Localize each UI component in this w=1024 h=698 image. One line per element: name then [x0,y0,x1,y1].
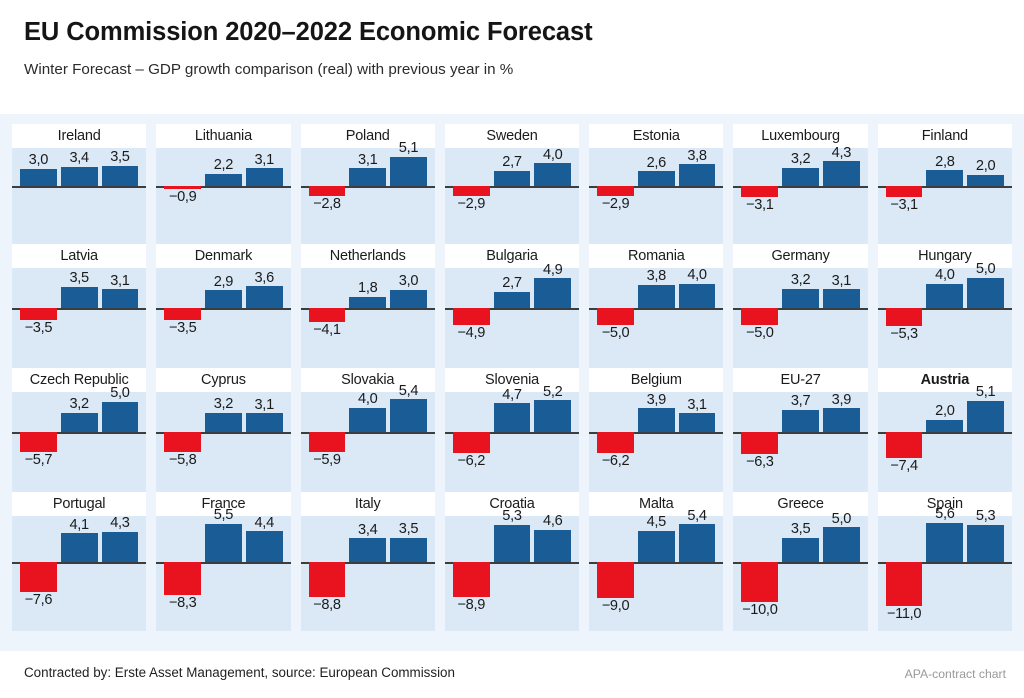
bar-positive [390,538,427,562]
bar-slot: −3,1 [886,148,923,244]
bar-value-label: −8,9 [457,598,485,613]
country-name: Greece [777,496,823,512]
bar-negative [20,432,57,452]
bar-negative [20,562,57,592]
bar-value-label: 4,0 [358,392,377,407]
country-name: Netherlands [330,248,406,264]
bar-group: −11,05,65,3 [878,516,1012,631]
bar-value-label: −4,1 [313,323,341,338]
bar-value-label: 2,7 [502,155,521,170]
country-panel-plot: −6,23,93,1 [589,392,723,492]
bar-group: −8,83,43,5 [301,516,435,631]
bar-positive [102,166,139,186]
bar-slot: 3,1 [246,392,283,492]
bar-slot: 3,5 [782,516,819,631]
bar-slot: −10,0 [741,516,778,631]
bar-group: −7,42,05,1 [878,392,1012,492]
bar-slot: 2,2 [205,148,242,244]
bar-slot: 4,1 [61,516,98,631]
bar-group: −2,83,15,1 [301,148,435,244]
bar-slot: −5,8 [164,392,201,492]
bar-slot: 3,7 [782,392,819,492]
bar-value-label: 2,9 [214,275,233,290]
bar-value-label: 3,1 [832,274,851,289]
bar-value-label: 2,0 [935,404,954,419]
bar-value-label: 3,8 [687,149,706,164]
bar-positive [246,168,283,186]
bar-slot: −5,9 [309,392,346,492]
country-panel: Italy−8,83,43,5 [301,492,435,631]
bar-value-label: 3,1 [254,153,273,168]
country-panel-plot: 3,03,43,5 [12,148,146,244]
footer: Contracted by: Erste Asset Management, s… [0,651,1024,698]
bar-positive [679,164,716,186]
country-panel: Latvia−3,53,53,1 [12,244,146,368]
bar-value-label: 3,2 [69,397,88,412]
country-panel: Finland−3,12,82,0 [878,124,1012,244]
bar-negative [309,432,346,452]
country-panel-plot: −5,03,23,1 [733,268,867,368]
bar-slot: 3,8 [638,268,675,368]
bar-slot: −2,9 [453,148,490,244]
country-panel-plot: −3,13,24,3 [733,148,867,244]
bar-value-label: −2,9 [602,197,630,212]
small-multiples-grid: Ireland3,03,43,5Lithuania−0,92,23,1Polan… [12,124,1012,643]
bar-positive [390,290,427,308]
header: EU Commission 2020–2022 Economic Forecas… [0,0,1024,80]
bar-positive [967,175,1004,187]
bar-positive [390,157,427,187]
bar-value-label: 3,4 [69,151,88,166]
bar-slot: −3,1 [741,148,778,244]
bar-slot: 4,0 [349,392,386,492]
bar-positive [102,289,139,308]
bar-value-label: 3,1 [110,274,129,289]
country-panel-header: Italy [301,492,435,516]
bar-negative [164,432,201,452]
bar-positive [246,413,283,432]
country-panel: Netherlands−4,11,83,0 [301,244,435,368]
country-name: Latvia [60,248,98,264]
bar-slot: 2,9 [205,268,242,368]
bar-value-label: 3,9 [832,393,851,408]
bar-value-label: −5,7 [25,453,53,468]
bar-negative [453,308,490,325]
bar-value-label: 3,1 [254,398,273,413]
bar-value-label: −2,8 [313,197,341,212]
bar-positive [61,533,98,562]
country-panel: EU-27−6,33,73,9 [733,368,867,492]
bar-value-label: −10,0 [742,603,777,618]
bar-value-label: 4,7 [502,388,521,403]
bar-value-label: −5,0 [746,326,774,341]
bar-positive [926,420,963,432]
bar-positive [390,399,427,432]
bar-value-label: −5,8 [169,453,197,468]
bar-slot: 3,1 [246,148,283,244]
country-panel: Luxembourg−3,13,24,3 [733,124,867,244]
country-name: Finland [922,128,968,144]
country-panel-header: Germany [733,244,867,268]
bar-slot: 2,0 [926,392,963,492]
bar-group: −8,95,34,6 [445,516,579,631]
country-panel-plot: −9,04,55,4 [589,516,723,631]
bar-value-label: 3,0 [399,274,418,289]
bar-group: −2,92,63,8 [589,148,723,244]
bar-slot: 3,1 [102,268,139,368]
bar-value-label: 4,3 [110,516,129,531]
bar-slot: 5,1 [967,392,1004,492]
bar-group: −5,03,84,0 [589,268,723,368]
bar-slot: −8,9 [453,516,490,631]
bar-group: −8,35,54,4 [156,516,290,631]
country-panel-plot: −8,95,34,6 [445,516,579,631]
bar-slot: 2,7 [494,268,531,368]
country-name: Ireland [58,128,101,144]
bar-positive [534,163,571,186]
bar-slot: 3,4 [61,148,98,244]
bar-positive [823,161,860,186]
bar-positive [782,289,819,308]
bar-positive [494,171,531,187]
bar-slot: 3,5 [102,148,139,244]
bar-slot: 4,3 [823,148,860,244]
bar-slot: 3,1 [823,268,860,368]
bar-value-label: −3,5 [169,321,197,336]
bar-negative [164,308,201,320]
country-name: Portugal [53,496,105,512]
bar-positive [679,284,716,308]
bar-slot: −6,2 [453,392,490,492]
bar-negative [597,562,634,598]
bar-positive [61,167,98,187]
bar-group: −4,92,74,9 [445,268,579,368]
bar-value-label: −6,3 [746,455,774,470]
country-panel-header: Sweden [445,124,579,148]
bar-slot: 3,4 [349,516,386,631]
bar-group: −5,34,05,0 [878,268,1012,368]
bar-value-label: 3,5 [69,271,88,286]
country-panel: Cyprus−5,83,23,1 [156,368,290,492]
bar-value-label: 3,2 [791,273,810,288]
bar-negative [309,308,346,322]
bar-value-label: −11,0 [887,607,921,622]
bar-value-label: 5,2 [543,385,562,400]
bar-value-label: 5,3 [976,509,995,524]
bar-group: −0,92,23,1 [156,148,290,244]
bar-value-label: −8,8 [313,598,341,613]
bar-group: −9,04,55,4 [589,516,723,631]
bar-value-label: 5,0 [976,262,995,277]
country-panel: Estonia−2,92,63,8 [589,124,723,244]
country-panel: Austria−7,42,05,1 [878,368,1012,492]
bar-slot: 4,3 [102,516,139,631]
bar-positive [349,297,386,308]
bar-slot: −7,4 [886,392,923,492]
bar-positive [205,174,242,187]
bar-value-label: 4,0 [935,268,954,283]
bar-positive [494,403,531,432]
bar-positive [534,400,571,432]
bar-value-label: −6,2 [602,454,630,469]
bar-positive [205,413,242,432]
bar-value-label: −2,9 [457,197,485,212]
bar-positive [102,402,139,432]
country-panel: Poland−2,83,15,1 [301,124,435,244]
bar-value-label: 2,0 [976,159,995,174]
bar-slot: −5,3 [886,268,923,368]
bar-value-label: 4,0 [543,148,562,163]
bar-value-label: 4,3 [832,146,851,161]
country-name: Estonia [633,128,680,144]
bar-value-label: 2,6 [647,156,666,171]
bar-slot: 5,0 [102,392,139,492]
bar-value-label: 5,0 [832,512,851,527]
country-name: Poland [346,128,390,144]
country-panel-plot: −5,83,23,1 [156,392,290,492]
bar-slot: −3,5 [164,268,201,368]
bar-slot: 2,7 [494,148,531,244]
bar-group: −5,83,23,1 [156,392,290,492]
bar-negative [453,186,490,196]
country-panel: Bulgaria−4,92,74,9 [445,244,579,368]
bar-positive [102,532,139,562]
country-panel-header: Portugal [12,492,146,516]
bar-positive [782,538,819,562]
bar-value-label: 5,0 [110,386,129,401]
country-name: Slovakia [341,372,394,388]
country-panel-header: Denmark [156,244,290,268]
bar-positive [494,292,531,308]
bar-slot: −0,9 [164,148,201,244]
country-panel-plot: −8,83,43,5 [301,516,435,631]
bar-positive [926,284,963,308]
bar-group: −3,53,53,1 [12,268,146,368]
page-title: EU Commission 2020–2022 Economic Forecas… [24,18,1024,47]
bar-negative [597,308,634,325]
country-name: Denmark [195,248,252,264]
bar-slot: 4,5 [638,516,675,631]
bar-value-label: 4,6 [543,514,562,529]
country-panel: Denmark−3,52,93,6 [156,244,290,368]
bar-positive [205,524,242,562]
country-panel: Slovakia−5,94,05,4 [301,368,435,492]
bar-value-label: −7,4 [890,459,918,474]
bar-slot: 5,5 [205,516,242,631]
bar-positive [679,413,716,432]
country-panel-plot: −2,92,74,0 [445,148,579,244]
bar-slot: 3,9 [823,392,860,492]
bar-slot: 5,2 [534,392,571,492]
bar-negative [741,186,778,196]
bar-value-label: 3,5 [791,522,810,537]
bar-group: −10,03,55,0 [733,516,867,631]
country-panel: Ireland3,03,43,5 [12,124,146,244]
bar-slot: 5,0 [967,268,1004,368]
bar-value-label: 2,2 [214,158,233,173]
footer-source-text: Contracted by: Erste Asset Management, s… [24,665,455,680]
bar-slot: 3,0 [20,148,57,244]
bar-negative [886,308,923,326]
bar-value-label: −3,1 [890,198,918,213]
country-panel-plot: −5,73,25,0 [12,392,146,492]
country-panel: Czech Republic−5,73,25,0 [12,368,146,492]
bar-value-label: 5,6 [935,507,954,522]
country-name: Italy [355,496,381,512]
bar-positive [534,530,571,562]
bar-positive [246,286,283,308]
bar-slot: −5,7 [20,392,57,492]
bar-slot: 3,2 [61,392,98,492]
country-panel-plot: −7,42,05,1 [878,392,1012,492]
bar-negative [886,186,923,196]
bar-value-label: −5,9 [313,453,341,468]
country-name: Bulgaria [486,248,538,264]
bar-positive [349,408,386,432]
bar-slot: −5,0 [741,268,778,368]
bar-negative [886,562,923,606]
country-name: Malta [639,496,673,512]
bar-group: −3,52,93,6 [156,268,290,368]
bar-value-label: −5,3 [890,327,918,342]
country-panel-plot: −11,05,65,3 [878,516,1012,631]
bar-positive [638,285,675,308]
country-panel-plot: −5,94,05,4 [301,392,435,492]
bar-positive [61,287,98,308]
bar-value-label: 5,4 [399,384,418,399]
bar-negative [164,562,201,595]
bar-value-label: 4,4 [254,516,273,531]
bar-positive [967,525,1004,562]
bar-slot: 5,3 [967,516,1004,631]
bar-slot: −4,1 [309,268,346,368]
country-panel-plot: −5,03,84,0 [589,268,723,368]
bar-negative [453,562,490,597]
bar-positive [638,408,675,432]
bar-group: −2,92,74,0 [445,148,579,244]
bar-value-label: −3,5 [25,321,53,336]
bar-negative [453,432,490,453]
bar-slot: −6,2 [597,392,634,492]
country-panel-plot: −4,11,83,0 [301,268,435,368]
bar-value-label: 5,1 [976,385,995,400]
bar-positive [679,524,716,562]
bar-slot: 3,9 [638,392,675,492]
bar-slot: 4,0 [534,148,571,244]
country-panel-plot: −7,64,14,3 [12,516,146,631]
bar-group: −6,23,93,1 [589,392,723,492]
bar-slot: 4,0 [679,268,716,368]
bar-positive [20,169,57,186]
bar-slot: 5,6 [926,516,963,631]
bar-value-label: 1,8 [358,281,377,296]
bar-positive [638,531,675,562]
bar-slot: 4,0 [926,268,963,368]
country-name: Cyprus [201,372,246,388]
country-name: EU-27 [781,372,821,388]
bar-slot: 3,5 [61,268,98,368]
bar-value-label: 3,1 [358,153,377,168]
bar-positive [349,168,386,186]
bar-slot: 3,2 [782,268,819,368]
bar-negative [20,308,57,320]
bar-slot: 5,4 [679,516,716,631]
country-panel-plot: −10,03,55,0 [733,516,867,631]
bar-positive [534,278,571,308]
country-panel: Belgium−6,23,93,1 [589,368,723,492]
bar-value-label: 3,8 [647,269,666,284]
bar-slot: 2,0 [967,148,1004,244]
bar-value-label: 4,9 [543,263,562,278]
bar-value-label: 2,8 [935,155,954,170]
bar-negative [597,186,634,196]
bar-slot: −2,9 [597,148,634,244]
bar-slot: 4,7 [494,392,531,492]
bar-positive [823,289,860,308]
bar-value-label: 3,1 [687,398,706,413]
country-panel: Hungary−5,34,05,0 [878,244,1012,368]
footer-credit-text: APA-contract chart [905,667,1006,681]
bar-slot: −9,0 [597,516,634,631]
country-panel-plot: −2,92,63,8 [589,148,723,244]
country-panel: Lithuania−0,92,23,1 [156,124,290,244]
bar-value-label: −8,3 [169,596,197,611]
bar-slot: 5,4 [390,392,427,492]
bar-value-label: 4,5 [647,515,666,530]
bar-negative [309,186,346,195]
country-name: Sweden [486,128,537,144]
country-name: Belgium [631,372,682,388]
bar-positive [494,525,531,562]
bar-slot: 5,3 [494,516,531,631]
bar-positive [205,290,242,308]
bar-slot: −2,8 [309,148,346,244]
bar-negative [886,432,923,458]
bar-negative [597,432,634,453]
country-panel-header: Lithuania [156,124,290,148]
bar-value-label: 4,0 [687,268,706,283]
bar-value-label: 5,5 [214,508,233,523]
country-panel: Germany−5,03,23,1 [733,244,867,368]
bar-value-label: −0,9 [169,190,197,205]
bar-positive [782,410,819,432]
bar-value-label: −9,0 [602,599,630,614]
bar-value-label: 5,1 [399,141,418,156]
country-panel-plot: −3,52,93,6 [156,268,290,368]
bar-positive [926,523,963,562]
bar-negative [741,432,778,454]
country-panel-header: Romania [589,244,723,268]
bar-group: −5,03,23,1 [733,268,867,368]
chart-grid-area: Ireland3,03,43,5Lithuania−0,92,23,1Polan… [0,114,1024,651]
bar-slot: 1,8 [349,268,386,368]
country-panel-plot: −2,83,15,1 [301,148,435,244]
bar-value-label: 3,4 [358,523,377,538]
bar-slot: 5,0 [823,516,860,631]
bar-slot: 3,2 [205,392,242,492]
bar-value-label: −3,1 [746,198,774,213]
country-panel-plot: −0,92,23,1 [156,148,290,244]
bar-group: −3,13,24,3 [733,148,867,244]
bar-slot: 3,6 [246,268,283,368]
bar-group: −6,24,75,2 [445,392,579,492]
forecast-infographic: EU Commission 2020–2022 Economic Forecas… [0,0,1024,698]
bar-group: −7,64,14,3 [12,516,146,631]
bar-slot: 3,2 [782,148,819,244]
bar-slot: −7,6 [20,516,57,631]
bar-slot: 5,1 [390,148,427,244]
bar-positive [967,401,1004,432]
